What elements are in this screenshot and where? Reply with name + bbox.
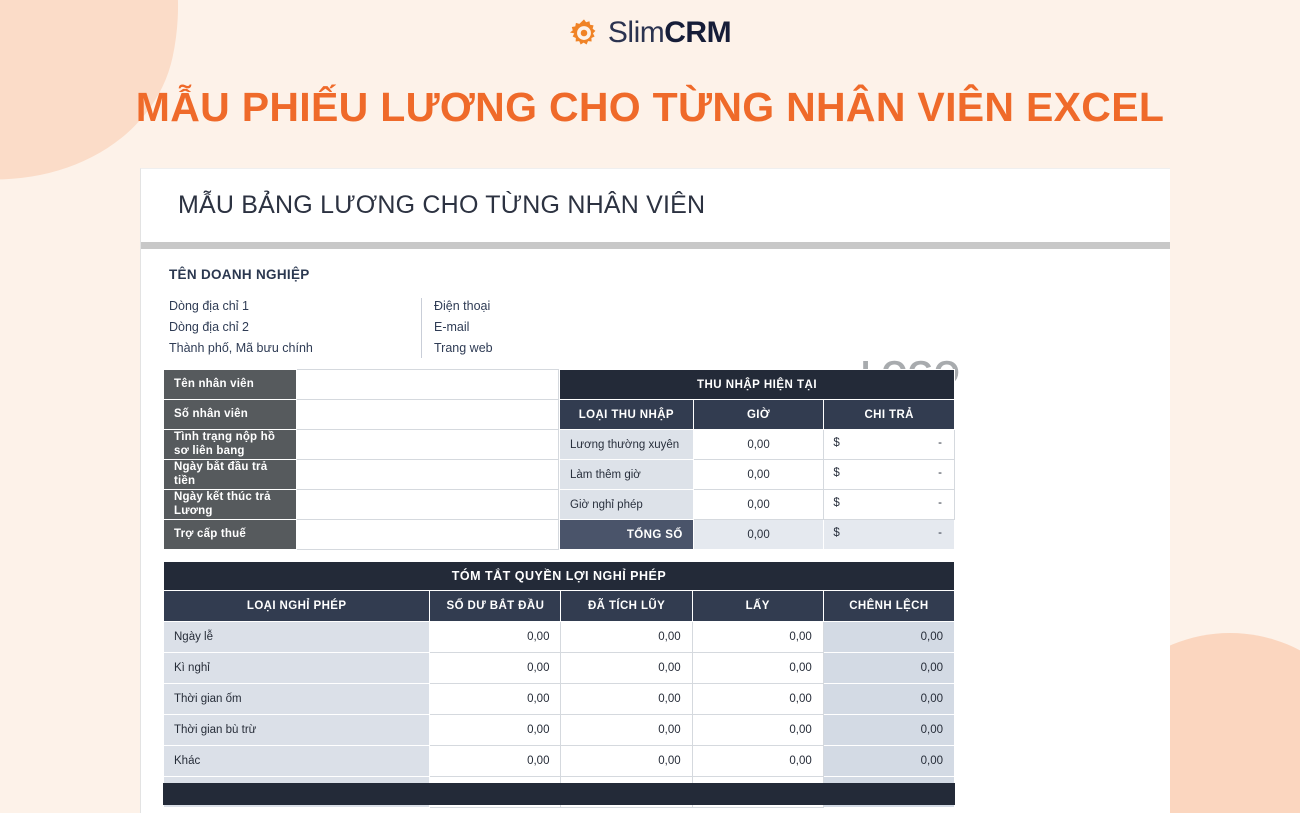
brand-wordmark: SlimCRM: [608, 18, 731, 48]
table-row: Tên nhân viên: [164, 370, 559, 400]
employee-field-input[interactable]: [297, 370, 559, 400]
page-root: SlimCRM MẪU PHIẾU LƯƠNG CHO TỪNG NHÂN VI…: [0, 0, 1300, 813]
address-line: Dòng địa chỉ 1: [169, 296, 313, 317]
leave-taken-cell[interactable]: 0,00: [692, 715, 823, 746]
income-hours-cell[interactable]: 0,00: [693, 490, 824, 520]
table-row: Ngày bắt đầu trả tiền: [164, 460, 559, 490]
income-total-hours: 0,00: [693, 520, 824, 550]
income-type-label: Lương thường xuyên: [560, 430, 694, 460]
leave-accrued-cell[interactable]: 0,00: [561, 746, 692, 777]
leave-difference-cell: 0,00: [823, 715, 954, 746]
document-card: MẪU BẢNG LƯƠNG CHO TỪNG NHÂN VIÊN TÊN DO…: [140, 168, 1170, 813]
employee-field-label: Ngày bắt đầu trả tiền: [164, 460, 297, 490]
currency-symbol: $: [833, 467, 839, 479]
employee-field-input[interactable]: [297, 400, 559, 430]
income-pay-value: -: [938, 467, 942, 479]
income-pay-cell[interactable]: $ -: [824, 430, 955, 460]
income-pay-cell[interactable]: $ -: [824, 460, 955, 490]
employee-field-label: Tên nhân viên: [164, 370, 297, 400]
income-hours-cell[interactable]: 0,00: [693, 460, 824, 490]
employee-field-input[interactable]: [297, 460, 559, 490]
gear-icon: [569, 18, 599, 48]
column-header-opening-balance: SỐ DƯ BẮT ĐẦU: [430, 591, 561, 622]
table-row: Trợ cấp thuế: [164, 520, 559, 550]
column-header-pay: CHI TRẢ: [824, 400, 955, 430]
column-header-hours: GIỜ: [693, 400, 824, 430]
address-line: Thành phố, Mã bưu chính: [169, 338, 313, 359]
leave-difference-cell: 0,00: [823, 684, 954, 715]
document-title: MẪU BẢNG LƯƠNG CHO TỪNG NHÂN VIÊN: [141, 169, 1170, 220]
table-row: Khác 0,00 0,00 0,00 0,00: [164, 746, 955, 777]
currency-symbol: $: [833, 497, 839, 509]
employee-field-input[interactable]: [297, 430, 559, 460]
employee-field-label: Số nhân viên: [164, 400, 297, 430]
leave-taken-cell[interactable]: 0,00: [692, 684, 823, 715]
income-pay-cell[interactable]: $ -: [824, 490, 955, 520]
table-row: LOẠI NGHỈ PHÉP SỐ DƯ BẮT ĐẦU ĐÃ TÍCH LŨY…: [164, 591, 955, 622]
income-type-label: Giờ nghỉ phép: [560, 490, 694, 520]
leave-summary-table: TÓM TẮT QUYỀN LỢI NGHỈ PHÉP LOẠI NGHỈ PH…: [163, 561, 955, 808]
table-row: THU NHẬP HIỆN TẠI: [560, 370, 955, 400]
leave-opening-cell[interactable]: 0,00: [430, 715, 561, 746]
contact-line: Trang web: [434, 338, 493, 359]
leave-table-title: TÓM TẮT QUYỀN LỢI NGHỈ PHÉP: [164, 562, 955, 591]
spreadsheet-body: Tên nhân viên Số nhân viên Tình trạng nộ…: [141, 369, 1170, 799]
table-row: Ngày kết thúc trả Lương: [164, 490, 559, 520]
income-pay-value: -: [938, 437, 942, 449]
column-header-leave-type: LOẠI NGHỈ PHÉP: [164, 591, 430, 622]
table-row: LOẠI THU NHẬP GIỜ CHI TRẢ: [560, 400, 955, 430]
employee-field-label: Trợ cấp thuế: [164, 520, 297, 550]
contact-line: Điện thoại: [434, 296, 493, 317]
currency-symbol: $: [833, 437, 839, 449]
company-block: TÊN DOANH NGHIỆP Dòng địa chỉ 1 Dòng địa…: [141, 249, 1170, 369]
employee-field-input[interactable]: [297, 490, 559, 520]
leave-opening-cell[interactable]: 0,00: [430, 622, 561, 653]
column-header-taken: LẤY: [692, 591, 823, 622]
income-pay-value: -: [938, 497, 942, 509]
leave-accrued-cell[interactable]: 0,00: [561, 715, 692, 746]
table-row-total: TỔNG SỐ 0,00 $ -: [560, 520, 955, 550]
table-row: Thời gian bù trừ 0,00 0,00 0,00 0,00: [164, 715, 955, 746]
address-column: Dòng địa chỉ 1 Dòng địa chỉ 2 Thành phố,…: [169, 296, 313, 359]
leave-type-label: Khác: [164, 746, 430, 777]
table-row: TÓM TẮT QUYỀN LỢI NGHỈ PHÉP: [164, 562, 955, 591]
income-total-pay: $ -: [824, 520, 955, 550]
income-total-label: TỔNG SỐ: [560, 520, 694, 550]
income-type-label: Làm thêm giờ: [560, 460, 694, 490]
table-row: Số nhân viên: [164, 400, 559, 430]
current-income-table: THU NHẬP HIỆN TẠI LOẠI THU NHẬP GIỜ CHI …: [559, 369, 955, 550]
leave-type-label: Thời gian bù trừ: [164, 715, 430, 746]
leave-taken-cell[interactable]: 0,00: [692, 622, 823, 653]
leave-opening-cell[interactable]: 0,00: [430, 746, 561, 777]
column-header-income-type: LOẠI THU NHẬP: [560, 400, 694, 430]
employee-field-input[interactable]: [297, 520, 559, 550]
currency-symbol: $: [833, 527, 839, 539]
leave-type-label: Thời gian ốm: [164, 684, 430, 715]
leave-difference-cell: 0,00: [823, 746, 954, 777]
brand-logo: SlimCRM: [0, 18, 1300, 48]
address-line: Dòng địa chỉ 2: [169, 317, 313, 338]
next-section-header-partial: [163, 783, 955, 805]
employee-info-table: Tên nhân viên Số nhân viên Tình trạng nộ…: [163, 369, 559, 550]
leave-taken-cell[interactable]: 0,00: [692, 746, 823, 777]
leave-accrued-cell[interactable]: 0,00: [561, 622, 692, 653]
leave-accrued-cell[interactable]: 0,00: [561, 653, 692, 684]
table-row: Ngày lễ 0,00 0,00 0,00 0,00: [164, 622, 955, 653]
brand-name-light: Slim: [608, 16, 664, 49]
leave-type-label: Kì nghỉ: [164, 653, 430, 684]
income-table-title: THU NHẬP HIỆN TẠI: [560, 370, 955, 400]
employee-field-label: Ngày kết thúc trả Lương: [164, 490, 297, 520]
employee-field-label: Tình trạng nộp hồ sơ liên bang: [164, 430, 297, 460]
leave-opening-cell[interactable]: 0,00: [430, 653, 561, 684]
table-row: Giờ nghỉ phép 0,00 $ -: [560, 490, 955, 520]
page-headline: MẪU PHIẾU LƯƠNG CHO TỪNG NHÂN VIÊN EXCEL: [0, 84, 1300, 131]
leave-taken-cell[interactable]: 0,00: [692, 653, 823, 684]
table-row: Làm thêm giờ 0,00 $ -: [560, 460, 955, 490]
column-header-accrued: ĐÃ TÍCH LŨY: [561, 591, 692, 622]
table-row: Tình trạng nộp hồ sơ liên bang: [164, 430, 559, 460]
contact-line: E-mail: [434, 317, 493, 338]
leave-difference-cell: 0,00: [823, 622, 954, 653]
leave-opening-cell[interactable]: 0,00: [430, 684, 561, 715]
company-name: TÊN DOANH NGHIỆP: [169, 267, 329, 284]
table-row: Kì nghỉ 0,00 0,00 0,00 0,00: [164, 653, 955, 684]
contact-column: Điện thoại E-mail Trang web: [434, 296, 493, 359]
table-row: Thời gian ốm 0,00 0,00 0,00 0,00: [164, 684, 955, 715]
title-divider: [141, 242, 1170, 249]
brand-name-bold: CRM: [664, 16, 731, 49]
income-hours-cell[interactable]: 0,00: [693, 430, 824, 460]
leave-difference-cell: 0,00: [823, 653, 954, 684]
table-row: Lương thường xuyên 0,00 $ -: [560, 430, 955, 460]
column-header-difference: CHÊNH LỆCH: [823, 591, 954, 622]
income-total-pay-value: -: [938, 527, 942, 539]
address-divider: [421, 298, 422, 358]
leave-type-label: Ngày lễ: [164, 622, 430, 653]
leave-accrued-cell[interactable]: 0,00: [561, 684, 692, 715]
